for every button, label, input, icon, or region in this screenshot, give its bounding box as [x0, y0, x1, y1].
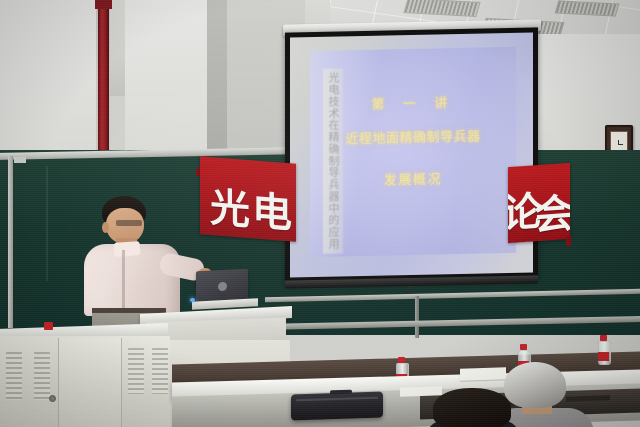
banner-left-char-2: 电 [252, 178, 292, 239]
sprinkler-pipe-icon [98, 0, 109, 172]
bottle-cap-icon [600, 335, 607, 341]
presenter-shirt-placket [122, 250, 125, 310]
banner-tie-right [566, 236, 571, 246]
bottle-cap-icon [398, 357, 405, 363]
cabinet-door[interactable] [58, 338, 122, 427]
laptop-power-led-icon [190, 298, 195, 302]
laptop-brand-logo-icon [218, 282, 227, 291]
screen-black-border: 第 一 讲 近程地面精确制导兵器 发展概况 光电技术在精确制导兵器中的应用 [285, 27, 538, 284]
cabinet-vent-icon [152, 348, 168, 394]
screen-support-rod [415, 296, 419, 338]
presenter-collar [114, 241, 141, 257]
wall-column-shadow [207, 0, 227, 150]
lecture-hall-photo: 第 一 讲 近程地面精确制导兵器 发展概况 光电技术在精确制导兵器中的应用 光 … [0, 0, 640, 427]
red-object-on-ledge [44, 322, 53, 330]
screen-surface: 第 一 讲 近程地面精确制导兵器 发展概况 光电技术在精确制导兵器中的应用 [290, 32, 533, 277]
water-bottle[interactable] [598, 335, 609, 363]
red-banner-left: 光 电 [200, 156, 296, 242]
wall-panel-center [125, 0, 207, 168]
bag-handle[interactable] [330, 390, 352, 395]
cabinet-vent-icon [6, 352, 22, 400]
chalkboard-seam [46, 166, 48, 281]
cabinet-vent-icon [128, 348, 144, 394]
cabinet-vent-icon [34, 352, 50, 400]
projection-screen[interactable]: 第 一 讲 近程地面精确制导兵器 发展概况 光电技术在精确制导兵器中的应用 [285, 23, 538, 290]
cabinet-lock-icon[interactable] [49, 395, 56, 402]
banner-right-char-2: 会 [534, 181, 570, 242]
banner-left-char-1: 光 [210, 175, 250, 236]
bottle-cap-icon [520, 344, 527, 350]
clock-minute-hand-icon [618, 144, 623, 145]
chalkboard-clip [14, 157, 26, 163]
red-banner-right: 论 会 [508, 163, 570, 243]
bottle-label [598, 352, 609, 361]
black-laptop-bag[interactable] [291, 392, 383, 421]
presenter-glasses-icon [116, 220, 142, 226]
sprinkler-pipe-cap [95, 0, 112, 9]
presenter-ear [102, 222, 109, 233]
slide-vertical-banner-text: 光电技术在精确制导兵器中的应用 [323, 68, 343, 253]
attendee-dark-haired [425, 388, 521, 427]
attendee-hair [433, 388, 511, 427]
chalkboard-frame-left [8, 156, 13, 328]
